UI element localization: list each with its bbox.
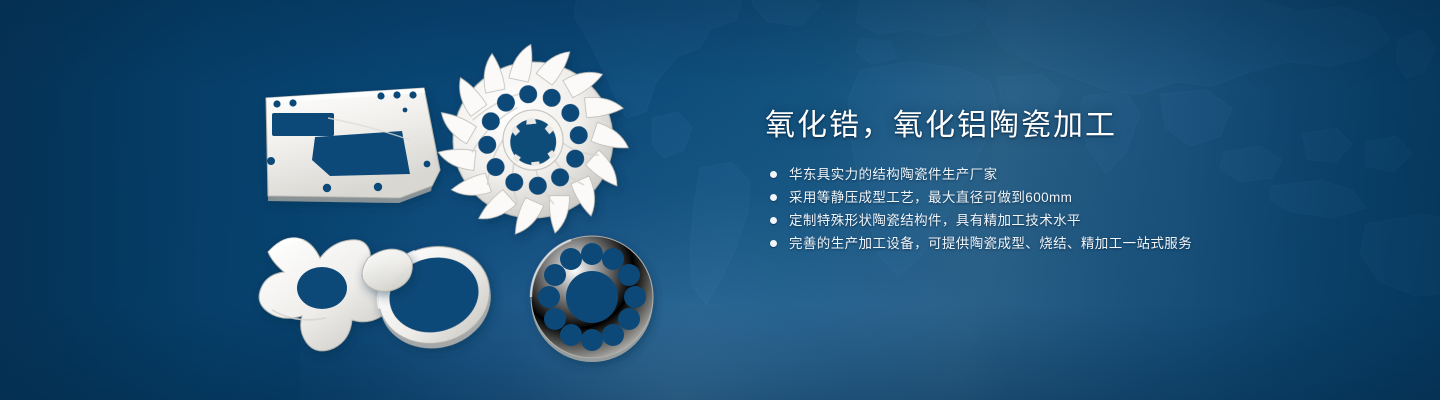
page-title: 氧化锆，氧化铝陶瓷加工 (765, 108, 1385, 145)
banner-copy: 氧化锆，氧化铝陶瓷加工 华东具实力的结构陶瓷件生产厂家 采用等静压成型工艺，最大… (765, 108, 1385, 259)
list-item-label: 完善的生产加工设备，可提供陶瓷成型、烧结、精加工一站式服务 (789, 236, 1192, 251)
ceramic-impeller-part (426, 33, 640, 247)
bullet-dot-icon (770, 171, 777, 178)
list-item: 华东具实力的结构陶瓷件生产厂家 (765, 167, 1385, 182)
feature-list: 华东具实力的结构陶瓷件生产厂家 采用等静压成型工艺，最大直径可做到600mm 定… (765, 167, 1385, 251)
ceramic-plate-part (266, 88, 440, 203)
ceramic-parts-photo (0, 0, 720, 400)
bullet-dot-icon (770, 194, 777, 201)
list-item: 定制特殊形状陶瓷结构件，具有精加工技术水平 (765, 213, 1385, 228)
list-item-label: 采用等静压成型工艺，最大直径可做到600mm (789, 190, 1072, 205)
bullet-dot-icon (770, 240, 777, 247)
list-item-label: 华东具实力的结构陶瓷件生产厂家 (789, 167, 998, 182)
ceramic-cross-part (259, 238, 391, 351)
bullet-dot-icon (770, 217, 777, 224)
list-item: 完善的生产加工设备，可提供陶瓷成型、烧结、精加工一站式服务 (765, 236, 1385, 251)
list-item: 采用等静压成型工艺，最大直径可做到600mm (765, 190, 1385, 205)
list-item-label: 定制特殊形状陶瓷结构件，具有精加工技术水平 (789, 213, 1081, 228)
ceramic-hole-disc-part (531, 236, 653, 362)
promo-banner: 氧化锆，氧化铝陶瓷加工 华东具实力的结构陶瓷件生产厂家 采用等静压成型工艺，最大… (0, 0, 1440, 400)
